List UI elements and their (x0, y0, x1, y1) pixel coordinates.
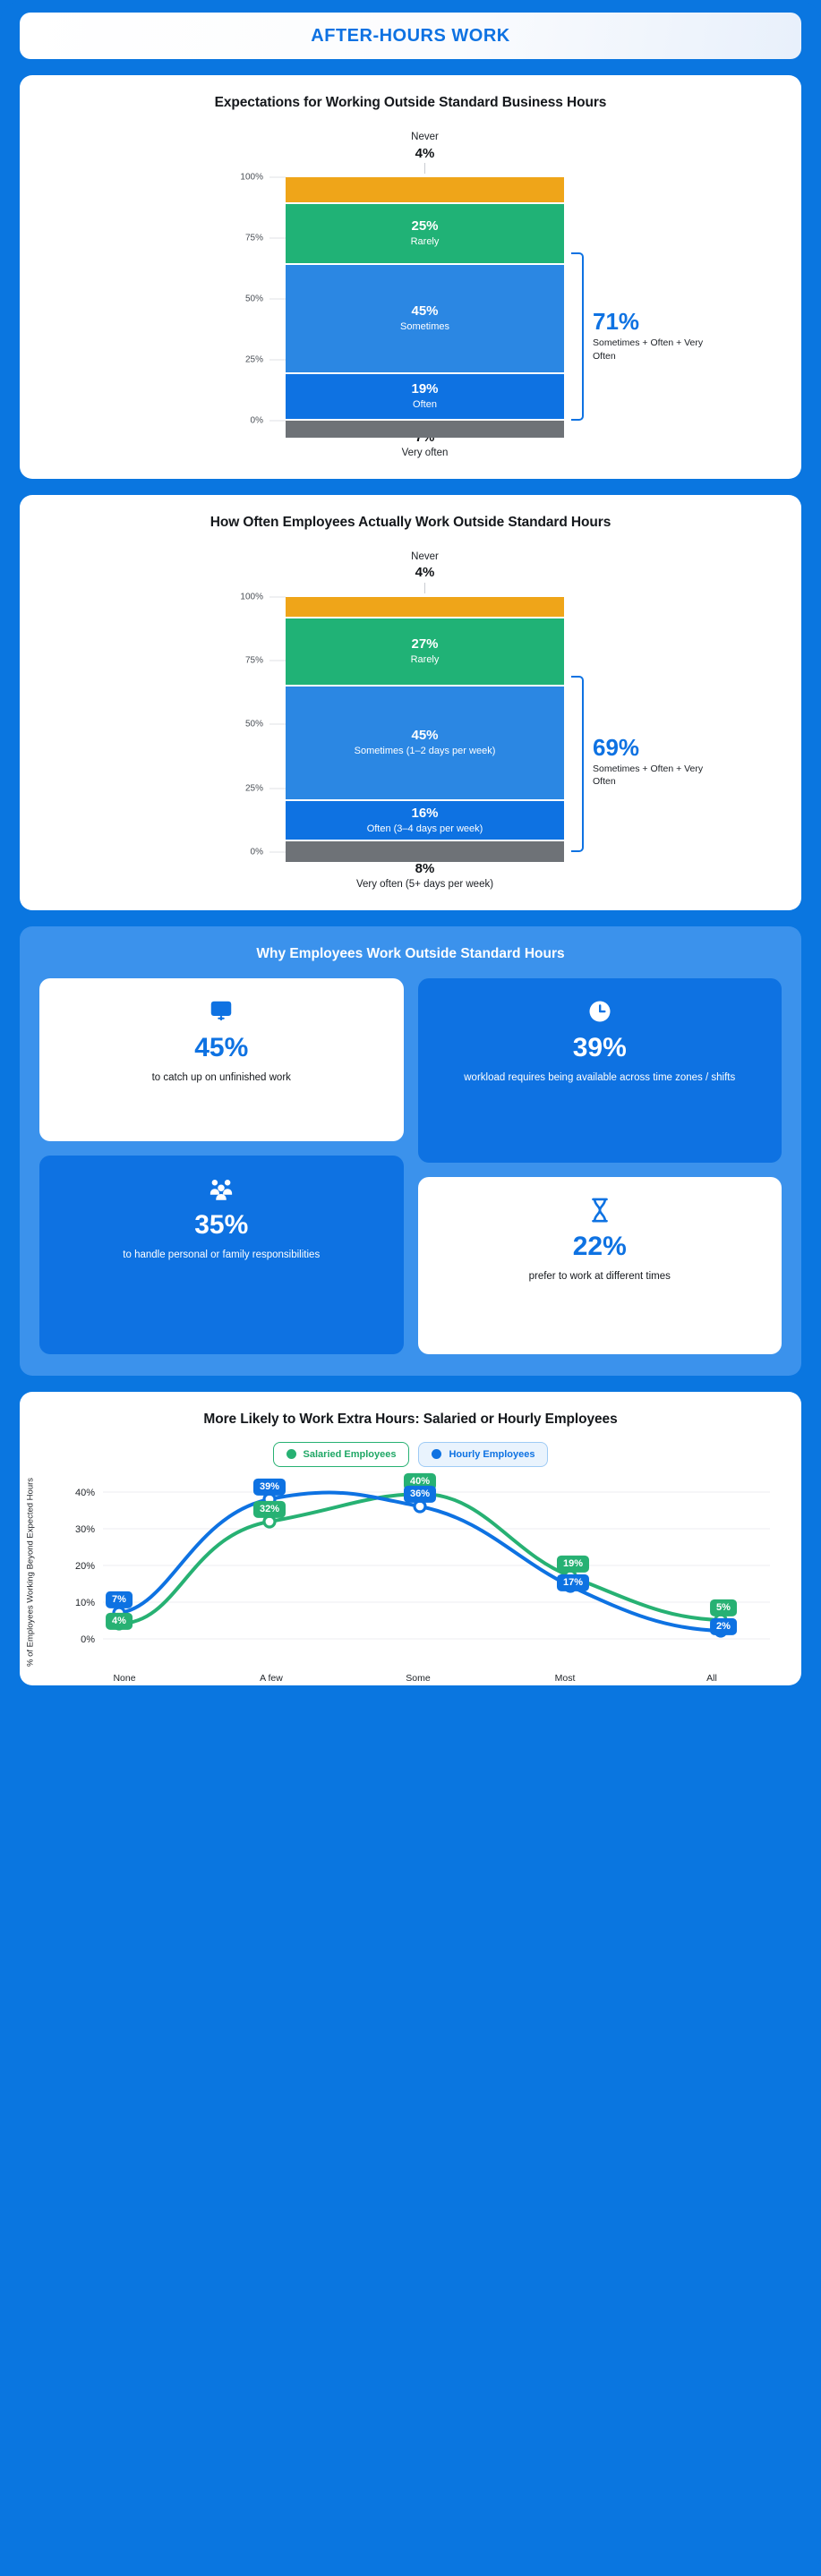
y-tick-50: 50% (245, 720, 286, 729)
chart-title: Expectations for Working Outside Standar… (36, 95, 785, 111)
people-icon (208, 1175, 235, 1202)
x-label-most: Most (492, 1673, 638, 1684)
monitor-icon (208, 998, 235, 1025)
segment-label: Rarely (411, 235, 440, 248)
value-tag-hourly-some: 36% (404, 1485, 436, 1502)
x-label-all: All (638, 1673, 785, 1684)
never-label: Never (286, 550, 564, 565)
svg-text:20%: 20% (75, 1561, 95, 1572)
never-annotation: Never 4% (286, 550, 564, 593)
chart-card-expectations: Expectations for Working Outside Standar… (20, 75, 801, 479)
bar-segment-very-often[interactable] (286, 421, 564, 438)
reason-value: 45% (194, 1034, 248, 1062)
reasons-title: Why Employees Work Outside Standard Hour… (39, 946, 782, 962)
chart-card-line: More Likely to Work Extra Hours: Salarie… (20, 1392, 801, 1685)
very-often-label: Very often (286, 447, 564, 461)
bar-segment-often[interactable]: 16% Often (3–4 days per week) (286, 801, 564, 842)
hourglass-icon (588, 1197, 611, 1224)
reason-description: workload requires being available across… (464, 1070, 735, 1086)
chart-plot-area-1: 100% 75% 50% 25% 0% 25% Rarely 45% Somet… (36, 177, 785, 421)
reason-value: 22% (573, 1233, 627, 1261)
svg-text:40%: 40% (75, 1488, 95, 1498)
chart-title: How Often Employees Actually Work Outsid… (36, 515, 785, 531)
y-axis-label: % of Employees Working Beyond Expected H… (26, 1478, 36, 1667)
page-banner: AFTER-HOURS WORK (20, 13, 801, 59)
never-annotation: Never 4% (286, 131, 564, 174)
legend-item-salaried[interactable]: Salaried Employees (273, 1442, 410, 1467)
x-label-some: Some (345, 1673, 492, 1684)
gridlines (103, 1492, 770, 1639)
callout-label: Sometimes + Often + Very Often (593, 763, 727, 788)
segment-value: 25% (411, 218, 438, 235)
stacked-bar-1: 25% Rarely 45% Sometimes 19% Often (286, 177, 564, 421)
reasons-panel: Why Employees Work Outside Standard Hour… (20, 926, 801, 1376)
very-often-value: 8% (286, 860, 564, 878)
chart-title: More Likely to Work Extra Hours: Salarie… (36, 1412, 785, 1428)
y-tick-0: 0% (251, 416, 286, 426)
y-tick-25: 25% (245, 783, 286, 793)
reasons-column-right: 39% workload requires being available ac… (418, 978, 783, 1354)
bar-segment-rarely[interactable]: 27% Rarely (286, 618, 564, 687)
y-tick-75: 75% (245, 656, 286, 666)
bar-segment-never[interactable] (286, 177, 564, 204)
segment-value: 45% (411, 303, 438, 320)
chart-card-actual: How Often Employees Actually Work Outsid… (20, 495, 801, 910)
chart-plot-area-2: 100% 75% 50% 25% 0% 27% Rarely 45% Somet… (36, 597, 785, 852)
segment-label: Often (3–4 days per week) (367, 823, 483, 835)
legend-dot-salaried (286, 1449, 296, 1459)
value-tag-hourly-all: 2% (710, 1617, 737, 1634)
y-tick-50: 50% (245, 294, 286, 304)
segment-value: 16% (411, 806, 438, 823)
reason-value: 35% (194, 1211, 248, 1240)
reason-tile-prefer-times[interactable]: 22% prefer to work at different times (418, 1177, 783, 1354)
legend-item-hourly[interactable]: Hourly Employees (418, 1442, 548, 1467)
x-label-a-few: A few (198, 1673, 345, 1684)
bar-segment-often[interactable]: 19% Often (286, 374, 564, 421)
x-label-none: None (51, 1673, 198, 1684)
never-leader-line (424, 583, 425, 593)
bar-segment-very-often[interactable] (286, 841, 564, 862)
value-tag-salaried-all: 5% (710, 1599, 737, 1616)
y-tick-100: 100% (240, 173, 286, 183)
reason-tile-time-zones[interactable]: 39% workload requires being available ac… (418, 978, 783, 1163)
segment-label: Sometimes (400, 320, 449, 333)
stacked-bar-2: 27% Rarely 45% Sometimes (1–2 days per w… (286, 597, 564, 852)
y-axis-2: 100% 75% 50% 25% 0% (36, 597, 286, 852)
bracket-callout-1: 71% Sometimes + Often + Very Often (593, 309, 727, 363)
y-tick-100: 100% (240, 592, 286, 601)
value-tag-hourly-most: 17% (557, 1574, 589, 1591)
segment-label: Often (413, 398, 437, 411)
stacked-bar-chart-1: Never 4% 100% 75% 50% 25% 0% 25% Rarely (36, 131, 785, 461)
bar-segment-sometimes[interactable]: 45% Sometimes (1–2 days per week) (286, 687, 564, 801)
bar-segment-rarely[interactable]: 25% Rarely (286, 204, 564, 265)
reason-value: 39% (573, 1034, 627, 1062)
y-tick-0: 0% (251, 847, 286, 857)
never-label: Never (286, 131, 564, 145)
bar-segment-sometimes[interactable]: 45% Sometimes (286, 265, 564, 374)
series-line-salaried (119, 1494, 721, 1624)
svg-text:30%: 30% (75, 1524, 95, 1535)
never-leader-line (424, 163, 425, 174)
line-chart-plot: % of Employees Working Beyond Expected H… (36, 1472, 785, 1662)
reasons-grid: 45% to catch up on unfinished work 35% t… (39, 978, 782, 1354)
never-value: 4% (286, 145, 564, 163)
segment-value: 45% (411, 728, 438, 745)
value-tag-salaried-a-few: 32% (253, 1500, 286, 1517)
clock-icon (586, 998, 613, 1025)
segment-value: 27% (411, 636, 438, 653)
x-axis-labels: None A few Some Most All (51, 1673, 785, 1684)
page-title: AFTER-HOURS WORK (311, 26, 509, 47)
reason-description: to handle personal or family responsibil… (123, 1248, 320, 1263)
y-tick-labels: 40% 30% 20% 10% 0% (75, 1488, 95, 1645)
reason-tile-catch-up[interactable]: 45% to catch up on unfinished work (39, 978, 404, 1141)
segment-label: Rarely (411, 653, 440, 666)
svg-text:0%: 0% (81, 1634, 95, 1645)
callout-value: 71% (593, 309, 727, 335)
y-tick-25: 25% (245, 355, 286, 365)
legend-dot-hourly (432, 1449, 441, 1459)
legend-label: Salaried Employees (304, 1449, 397, 1460)
bracket-2 (571, 676, 584, 852)
bracket-1 (571, 252, 584, 421)
reason-tile-family[interactable]: 35% to handle personal or family respons… (39, 1156, 404, 1354)
reason-description: prefer to work at different times (529, 1269, 671, 1284)
callout-label: Sometimes + Often + Very Often (593, 337, 727, 362)
chart-legend: Salaried Employees Hourly Employees (36, 1442, 785, 1467)
segment-label: Sometimes (1–2 days per week) (355, 745, 496, 757)
never-value: 4% (286, 564, 564, 582)
bar-segment-never[interactable] (286, 597, 564, 618)
value-tag-salaried-none: 4% (106, 1612, 133, 1629)
very-often-label: Very often (5+ days per week) (286, 878, 564, 892)
reasons-column-left: 45% to catch up on unfinished work 35% t… (39, 978, 404, 1354)
y-axis-1: 100% 75% 50% 25% 0% (36, 177, 286, 421)
svg-text:10%: 10% (75, 1598, 95, 1608)
value-tag-salaried-most: 19% (557, 1555, 589, 1572)
segment-value: 19% (411, 381, 438, 398)
y-tick-75: 75% (245, 234, 286, 243)
legend-label: Hourly Employees (449, 1449, 535, 1460)
reason-description: to catch up on unfinished work (152, 1070, 291, 1086)
series-line-hourly (119, 1492, 721, 1630)
callout-value: 69% (593, 735, 727, 761)
bracket-callout-2: 69% Sometimes + Often + Very Often (593, 735, 727, 789)
infographic-page: { "banner": { "title": "AFTER-HOURS WORK… (0, 0, 821, 2576)
value-tag-hourly-none: 7% (106, 1591, 133, 1608)
value-tag-hourly-a-few: 39% (253, 1478, 286, 1495)
very-often-annotation-2: 8% Very often (5+ days per week) (286, 860, 564, 892)
stacked-bar-chart-2: Never 4% 100% 75% 50% 25% 0% 27% Rarely … (36, 550, 785, 892)
